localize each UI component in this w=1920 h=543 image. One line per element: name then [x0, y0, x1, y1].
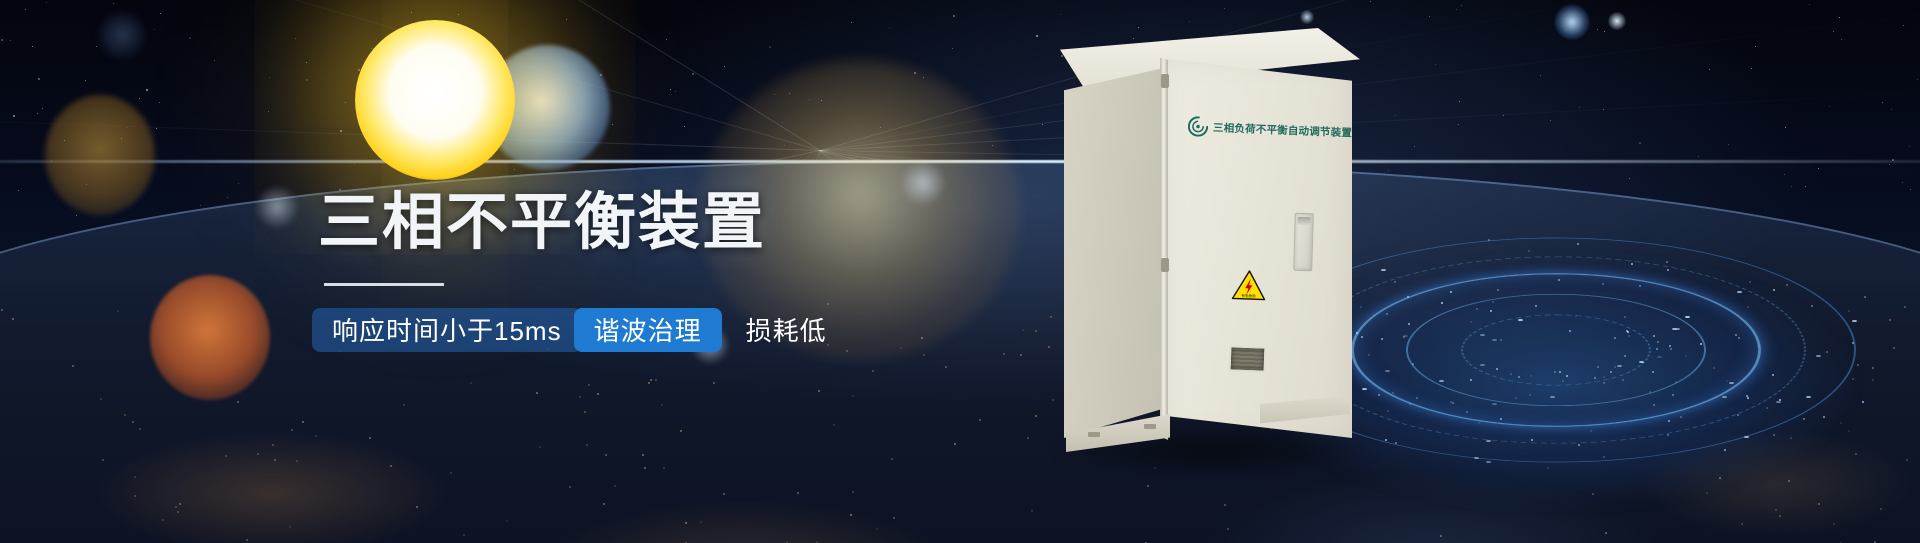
tech-ring-core: [1461, 314, 1651, 385]
svg-text:有电危险: 有电危险: [1241, 293, 1256, 299]
cabinet-side-panel: [1064, 68, 1164, 438]
amber-bokeh-orb: [45, 95, 155, 215]
cabinet-ventilation-grille: [1229, 345, 1267, 372]
bokeh-dot-d: [1300, 10, 1314, 24]
feature-badge-low-loss[interactable]: 损耗低: [726, 308, 847, 352]
hero-banner: 三相负荷不平衡自动调节装置 有电危险 三相不平衡装置 响应时间小于15ms 谐波…: [0, 0, 1920, 543]
hero-copy: 三相不平衡装置 响应时间小于15ms 谐波治理 损耗低: [318, 190, 938, 352]
feature-badge-harmonic[interactable]: 谐波治理: [574, 308, 722, 352]
cabinet-door-seam: [1160, 58, 1168, 440]
bokeh-dot-b: [1555, 5, 1589, 39]
product-cabinet: 三相负荷不平衡自动调节装置 有电危险: [1060, 28, 1360, 448]
cabinet-nameplate-text: 三相负荷不平衡自动调节装置: [1213, 120, 1353, 140]
page-title: 三相不平衡装置: [318, 190, 938, 257]
bokeh-dot-g: [255, 185, 299, 229]
feature-badge-response-time[interactable]: 响应时间小于15ms: [312, 308, 582, 352]
cabinet-hinge-top: [1161, 74, 1169, 88]
cabinet-base-slot-left: [1088, 432, 1100, 437]
company-logo-icon: [1188, 116, 1209, 137]
cabinet-hinge-mid: [1161, 258, 1169, 272]
cabinet-door-handle[interactable]: [1293, 213, 1314, 272]
bokeh-dot-c: [1608, 12, 1626, 30]
high-voltage-icon: 有电危险: [1231, 269, 1266, 300]
white-sun-orb: [355, 20, 515, 180]
orange-bokeh-orb: [150, 275, 270, 400]
bokeh-dot-a: [95, 8, 149, 62]
feature-badge-list: 响应时间小于15ms 谐波治理 损耗低: [318, 308, 938, 352]
title-divider: [324, 283, 444, 286]
cabinet-base-slot-mid: [1144, 424, 1156, 429]
cabinet-nameplate: 三相负荷不平衡自动调节装置: [1187, 111, 1338, 147]
